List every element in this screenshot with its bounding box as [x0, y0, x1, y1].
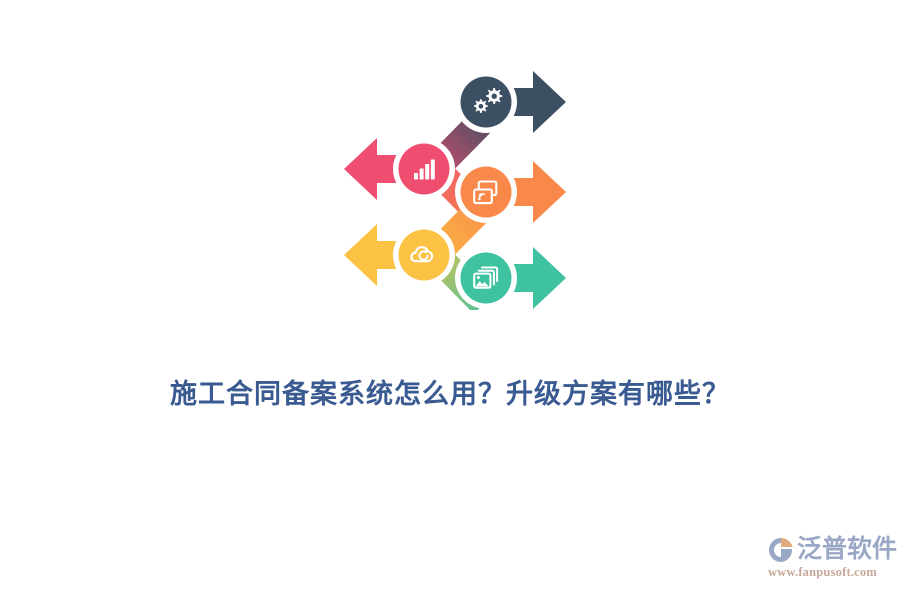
logo-url-text: www.fanpusoft.com — [768, 565, 898, 580]
logo-brand-text: 泛普软件 — [797, 535, 897, 565]
row-cloud-sync — [344, 224, 455, 286]
row-bar-chart — [344, 138, 455, 200]
logo-row: 泛普软件 — [766, 534, 898, 566]
five-step-arrow-infographic — [330, 55, 580, 310]
brand-logo[interactable]: 泛普软件 www.fanpusoft.com — [766, 534, 898, 584]
infographic-svg — [330, 55, 580, 310]
circle-bar-chart[interactable] — [399, 144, 450, 195]
row-screen-cast — [455, 161, 566, 223]
fanpu-logo-mark-icon — [766, 535, 796, 565]
page-canvas: 施工合同备案系统怎么用？升级方案有哪些？ 泛普软件 www.fanpusoft.… — [0, 0, 900, 600]
row-gears — [455, 71, 566, 133]
page-title: 施工合同备案系统怎么用？升级方案有哪些？ — [0, 372, 900, 411]
row-photos — [455, 247, 566, 309]
circle-cloud-sync[interactable] — [399, 230, 450, 281]
